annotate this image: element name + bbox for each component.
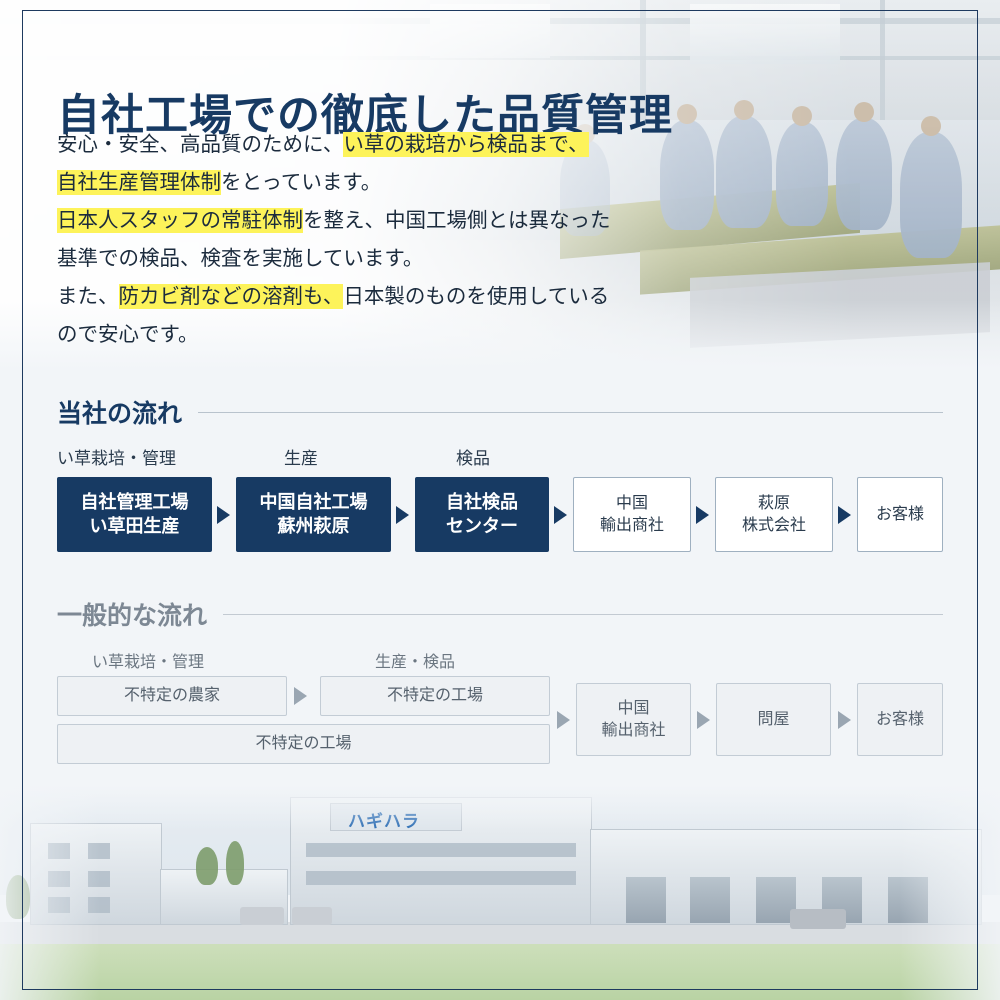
general-flow-caption-0: い草栽培・管理 xyxy=(92,648,204,672)
general-flow-box-right-2-line1: お客様 xyxy=(876,711,924,728)
general-flow-box-top-0: 不特定の農家 xyxy=(57,676,287,716)
general-flow-arrow-3 xyxy=(838,711,851,729)
general-flow-diagram: い草栽培・管理 生産・検品 不特定の農家 不特定の工場 不特定の工場 中国輸出商… xyxy=(0,0,1000,1000)
general-flow-arrow-0 xyxy=(294,687,307,705)
general-flow-box-bottom-0: 不特定の工場 xyxy=(57,724,550,764)
general-flow-caption-1: 生産・検品 xyxy=(375,648,455,672)
general-flow-box-top-1: 不特定の工場 xyxy=(320,676,550,716)
general-flow-box-right-2: お客様 xyxy=(857,683,943,756)
page-root: 自社工場での徹底した品質管理 安心・安全、高品質のために、い草の栽培から検品まで… xyxy=(0,0,1000,1000)
general-flow-arrow-1 xyxy=(557,711,570,729)
general-flow-box-right-0: 中国輸出商社 xyxy=(576,683,691,756)
general-flow-arrow-2 xyxy=(697,711,710,729)
general-flow-box-right-1-line1: 問屋 xyxy=(757,711,789,728)
general-flow-box-right-0-line1: 中国 xyxy=(617,700,649,717)
general-flow-box-right-0-line2: 輸出商社 xyxy=(601,722,665,739)
general-flow-box-right-1: 問屋 xyxy=(716,683,831,756)
